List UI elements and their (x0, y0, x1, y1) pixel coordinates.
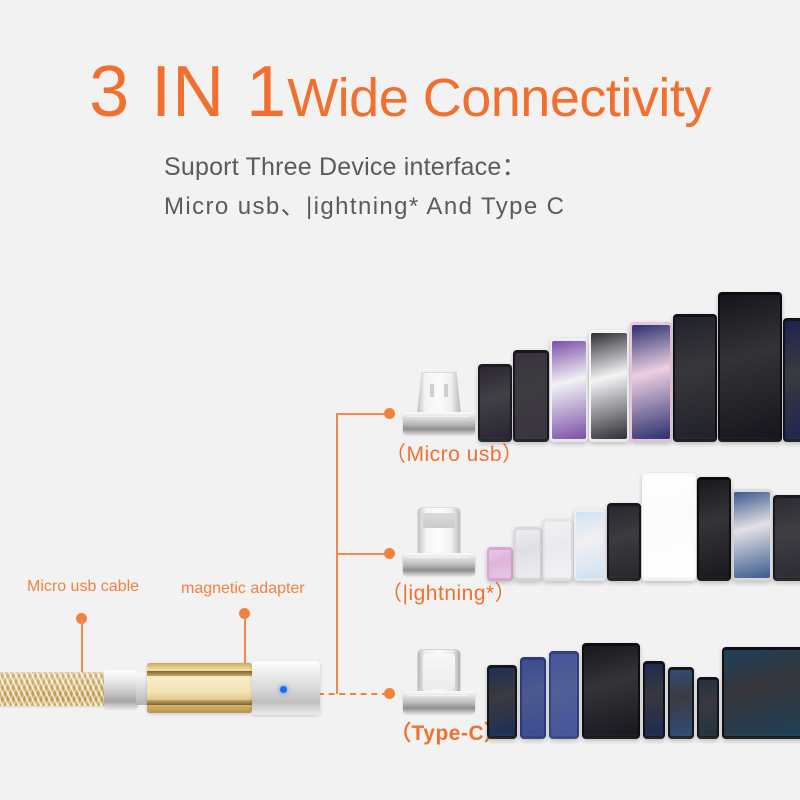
leader-dot-micro-usb (384, 408, 395, 419)
device-reflection (642, 579, 696, 581)
device-phone-colorful (668, 667, 694, 739)
device-iphone-5-black (773, 495, 800, 581)
device-iphone-black-tall (697, 477, 731, 581)
magnetic-adapter-body (252, 661, 320, 715)
device-screen (522, 660, 544, 736)
plug-type-c (403, 645, 475, 713)
device-reflection (520, 737, 546, 739)
subtitle-line-1: Suport Three Device interface： (164, 150, 724, 186)
device-reflection (582, 737, 640, 739)
device-huawei-mate-dark (513, 350, 549, 442)
label-micro-usb-cable: Micro usb cable (27, 578, 139, 596)
device-reflection (487, 737, 517, 739)
device-iphone-white-teal (642, 473, 696, 581)
device-reflection (514, 579, 542, 581)
device-reflection (668, 737, 694, 739)
device-screen (489, 550, 511, 578)
device-reflection (643, 737, 665, 739)
device-xiaomi-dark-small (673, 314, 717, 442)
lightning-tip-band (423, 513, 455, 528)
adapter-led-indicator (280, 686, 287, 693)
page-title: 3 IN 1Wide Connectivity (0, 56, 800, 128)
device-ipod-shuffle-pink (487, 547, 513, 581)
device-screen (552, 341, 586, 439)
device-row-type-c (487, 645, 800, 743)
type-c-tip-icon (417, 649, 461, 693)
device-tablet-teal (722, 647, 800, 739)
device-screen (515, 353, 547, 439)
device-reflection (487, 579, 513, 581)
lightning-tip-icon (417, 507, 461, 555)
device-reflection (722, 737, 800, 739)
gold-connector-body (147, 663, 252, 713)
device-reflection (589, 440, 629, 442)
device-phone-small-dark (697, 677, 719, 739)
device-letv-pink (630, 322, 672, 442)
subtitle-block: Suport Three Device interface： Micro usb… (164, 150, 724, 224)
infographic-canvas: 3 IN 1Wide Connectivity Suport Three Dev… (0, 0, 800, 800)
device-reflection (574, 579, 606, 581)
device-screen (720, 295, 780, 439)
device-screen (699, 680, 717, 736)
leader-branch-micro-usb (336, 413, 388, 415)
device-screen (724, 650, 800, 736)
device-xiaomi-mi6-black (718, 292, 782, 442)
device-screen (545, 522, 571, 578)
device-reflection (550, 440, 588, 442)
lightning-magnetic-base (403, 553, 475, 575)
device-oppo-white (589, 330, 629, 442)
device-iphone-6-silver (732, 489, 772, 581)
device-ipod-nano-white (543, 519, 573, 581)
device-reflection (732, 579, 772, 581)
device-screen (609, 506, 639, 578)
device-samsung-dark-blue (783, 318, 800, 442)
device-screen (645, 664, 663, 736)
device-reflection (630, 440, 672, 442)
device-row-lightning (487, 485, 800, 585)
leader-dot-type-c (384, 688, 395, 699)
type-c-magnetic-base (403, 691, 475, 713)
device-xiaomi-blue-a (520, 657, 546, 739)
device-xiaomi-mi6-black-c (582, 643, 640, 739)
device-reflection (697, 579, 731, 581)
micro-usb-magnetic-base (403, 412, 475, 434)
device-screen (480, 367, 510, 439)
subtitle-line-2: Micro usb、|ightning* And Type C (164, 190, 724, 224)
device-row-micro-usb (478, 330, 800, 448)
plug-micro-usb (403, 368, 475, 434)
plug-lightning (403, 503, 475, 575)
device-screen (489, 668, 515, 736)
device-screen (632, 325, 670, 439)
device-screen (734, 492, 770, 578)
device-screen (699, 480, 729, 578)
braided-cable (0, 672, 108, 706)
device-ipod-classic-black (607, 503, 641, 581)
cable-ferrule (104, 670, 138, 708)
device-reflection (697, 737, 719, 739)
headline-rest: Wide Connectivity (287, 68, 711, 128)
device-screen (516, 530, 540, 578)
device-reflection (783, 440, 800, 442)
micro-usb-slot-left (430, 384, 434, 397)
device-screen (670, 670, 692, 736)
device-screen (675, 317, 715, 439)
device-samsung-s8-black (487, 665, 517, 739)
label-leader-magnetic-adapter (244, 615, 246, 667)
device-reflection (549, 737, 579, 739)
device-ipod-classic-silver (514, 527, 542, 581)
micro-usb-slot-right (444, 384, 448, 397)
device-reflection (773, 579, 800, 581)
device-screen (644, 476, 694, 578)
device-screen (551, 654, 577, 736)
device-reflection (718, 440, 782, 442)
label-magnetic-adapter: magnetic adapter (181, 580, 305, 598)
device-reflection (478, 440, 512, 442)
leader-branch-type-c (318, 693, 388, 695)
headline-emphasis: 3 IN 1 (89, 52, 287, 132)
device-reflection (607, 579, 641, 581)
device-huawei-honor-black (478, 364, 512, 442)
leader-branch-lightning (336, 553, 388, 555)
device-screen (584, 646, 638, 736)
device-screen (775, 498, 800, 578)
device-reflection (673, 440, 717, 442)
device-vivo-white-purple (550, 338, 588, 442)
device-reflection (543, 579, 573, 581)
leader-dot-lightning (384, 548, 395, 559)
device-screen (576, 512, 604, 578)
device-screen (785, 321, 800, 439)
micro-usb-tip-icon (417, 372, 461, 414)
device-screen (591, 333, 627, 439)
device-ipod-touch-white (574, 509, 606, 581)
device-xiaomi-blue-b (549, 651, 579, 739)
device-phone-dark-slim (643, 661, 665, 739)
device-reflection (513, 440, 549, 442)
